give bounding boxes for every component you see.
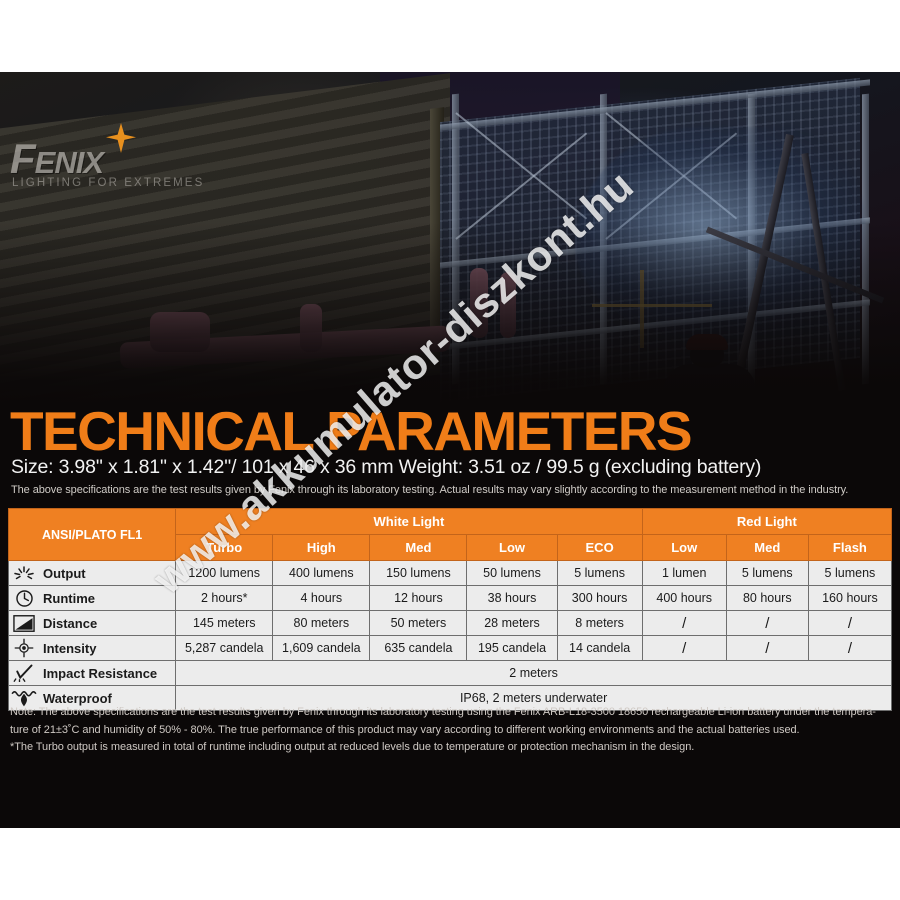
background-photo-industrial-site xyxy=(0,72,900,402)
impact-resistance-icon xyxy=(11,663,37,683)
note-line-3: *The Turbo output is measured in total o… xyxy=(10,739,890,757)
table-body: Output 1200 lumens 400 lumens 150 lumens… xyxy=(9,561,892,711)
cell-distance-eco: 8 meters xyxy=(557,611,642,636)
dark-content-band: FENIX LIGHTING FOR EXTREMES TECHNICAL PA… xyxy=(0,72,900,828)
cell-output-med: 150 lumens xyxy=(370,561,467,586)
cell-impact-resistance-value: 2 meters xyxy=(176,661,892,686)
cell-intensity-eco: 14 candela xyxy=(557,636,642,661)
footer-notes: Note: The above specifications are the t… xyxy=(10,704,890,757)
cell-intensity-red-low: / xyxy=(642,636,726,661)
page-title: TECHNICAL PARAMETERS xyxy=(10,402,691,460)
cell-output-high: 400 lumens xyxy=(273,561,370,586)
table-row: Runtime 2 hours* 4 hours 12 hours 38 hou… xyxy=(9,586,892,611)
cell-runtime-med: 12 hours xyxy=(370,586,467,611)
intensity-target-icon xyxy=(11,638,37,658)
cell-distance-red-flash: / xyxy=(808,611,891,636)
cell-runtime-red-low: 400 hours xyxy=(642,586,726,611)
cell-distance-turbo: 145 meters xyxy=(176,611,273,636)
cell-output-red-med: 5 lumens xyxy=(726,561,808,586)
brand-wordmark: FENIX xyxy=(10,135,103,183)
cell-distance-high: 80 meters xyxy=(273,611,370,636)
table-group-row: ANSI/PLATO FL1 White Light Red Light xyxy=(9,509,892,535)
row-label: Impact Resistance xyxy=(43,666,157,681)
cell-intensity-med: 635 candela xyxy=(370,636,467,661)
cell-distance-med: 50 meters xyxy=(370,611,467,636)
row-label: Output xyxy=(43,566,86,581)
cell-intensity-red-med: / xyxy=(726,636,808,661)
photo-fade-overlay xyxy=(0,222,900,402)
cell-output-low: 50 lumens xyxy=(467,561,557,586)
output-burst-icon xyxy=(11,563,37,583)
product-spec-sheet: FENIX LIGHTING FOR EXTREMES TECHNICAL PA… xyxy=(0,0,900,900)
note-line-1: Note: The above specifications are the t… xyxy=(10,704,890,722)
cell-output-red-low: 1 lumen xyxy=(642,561,726,586)
note-line-2: ture of 21±3˚C and humidity of 50% - 80%… xyxy=(10,722,890,740)
table-corner-label: ANSI/PLATO FL1 xyxy=(9,509,176,561)
cell-intensity-turbo: 5,287 candela xyxy=(176,636,273,661)
row-header-distance: Distance xyxy=(9,611,176,636)
table-head: ANSI/PLATO FL1 White Light Red Light Tur… xyxy=(9,509,892,561)
star-icon xyxy=(106,123,136,153)
cell-distance-red-low: / xyxy=(642,611,726,636)
cell-runtime-red-med: 80 hours xyxy=(726,586,808,611)
cell-intensity-low: 195 candela xyxy=(467,636,557,661)
mode-header-high: High xyxy=(273,535,370,561)
group-header-red-light: Red Light xyxy=(642,509,891,535)
mode-header-red-flash: Flash xyxy=(808,535,891,561)
table-row: Impact Resistance 2 meters xyxy=(9,661,892,686)
table-row: Output 1200 lumens 400 lumens 150 lumens… xyxy=(9,561,892,586)
row-header-output: Output xyxy=(9,561,176,586)
mode-header-red-med: Med xyxy=(726,535,808,561)
cell-output-eco: 5 lumens xyxy=(557,561,642,586)
row-header-intensity: Intensity xyxy=(9,636,176,661)
cell-runtime-high: 4 hours xyxy=(273,586,370,611)
technical-parameters-table: ANSI/PLATO FL1 White Light Red Light Tur… xyxy=(8,508,892,711)
cell-runtime-turbo: 2 hours* xyxy=(176,586,273,611)
cell-distance-red-med: / xyxy=(726,611,808,636)
cell-output-turbo: 1200 lumens xyxy=(176,561,273,586)
spec-disclaimer: The above specifications are the test re… xyxy=(11,484,848,496)
fenix-logo: FENIX LIGHTING FOR EXTREMES xyxy=(10,127,230,193)
spec-table-wrap: ANSI/PLATO FL1 White Light Red Light Tur… xyxy=(8,508,892,711)
brand-tagline: LIGHTING FOR EXTREMES xyxy=(12,177,204,189)
cell-intensity-red-flash: / xyxy=(808,636,891,661)
beam-distance-icon xyxy=(11,613,37,633)
table-row: Distance 145 meters 80 meters 50 meters … xyxy=(9,611,892,636)
cell-output-red-flash: 5 lumens xyxy=(808,561,891,586)
product-size-weight: Size: 3.98'' x 1.81'' x 1.42''/ 101 x 46… xyxy=(11,456,761,479)
cell-distance-low: 28 meters xyxy=(467,611,557,636)
row-header-impact-resistance: Impact Resistance xyxy=(9,661,176,686)
clock-icon xyxy=(11,588,37,608)
mode-header-med: Med xyxy=(370,535,467,561)
row-label: Intensity xyxy=(43,641,96,656)
row-header-runtime: Runtime xyxy=(9,586,176,611)
table-row: Intensity 5,287 candela 1,609 candela 63… xyxy=(9,636,892,661)
row-label: Distance xyxy=(43,616,97,631)
mode-header-turbo: Turbo xyxy=(176,535,273,561)
row-label: Runtime xyxy=(43,591,95,606)
mode-header-red-low: Low xyxy=(642,535,726,561)
mode-header-low: Low xyxy=(467,535,557,561)
group-header-white-light: White Light xyxy=(176,509,643,535)
cell-runtime-red-flash: 160 hours xyxy=(808,586,891,611)
mode-header-eco: ECO xyxy=(557,535,642,561)
cell-intensity-high: 1,609 candela xyxy=(273,636,370,661)
cell-runtime-eco: 300 hours xyxy=(557,586,642,611)
cell-runtime-low: 38 hours xyxy=(467,586,557,611)
